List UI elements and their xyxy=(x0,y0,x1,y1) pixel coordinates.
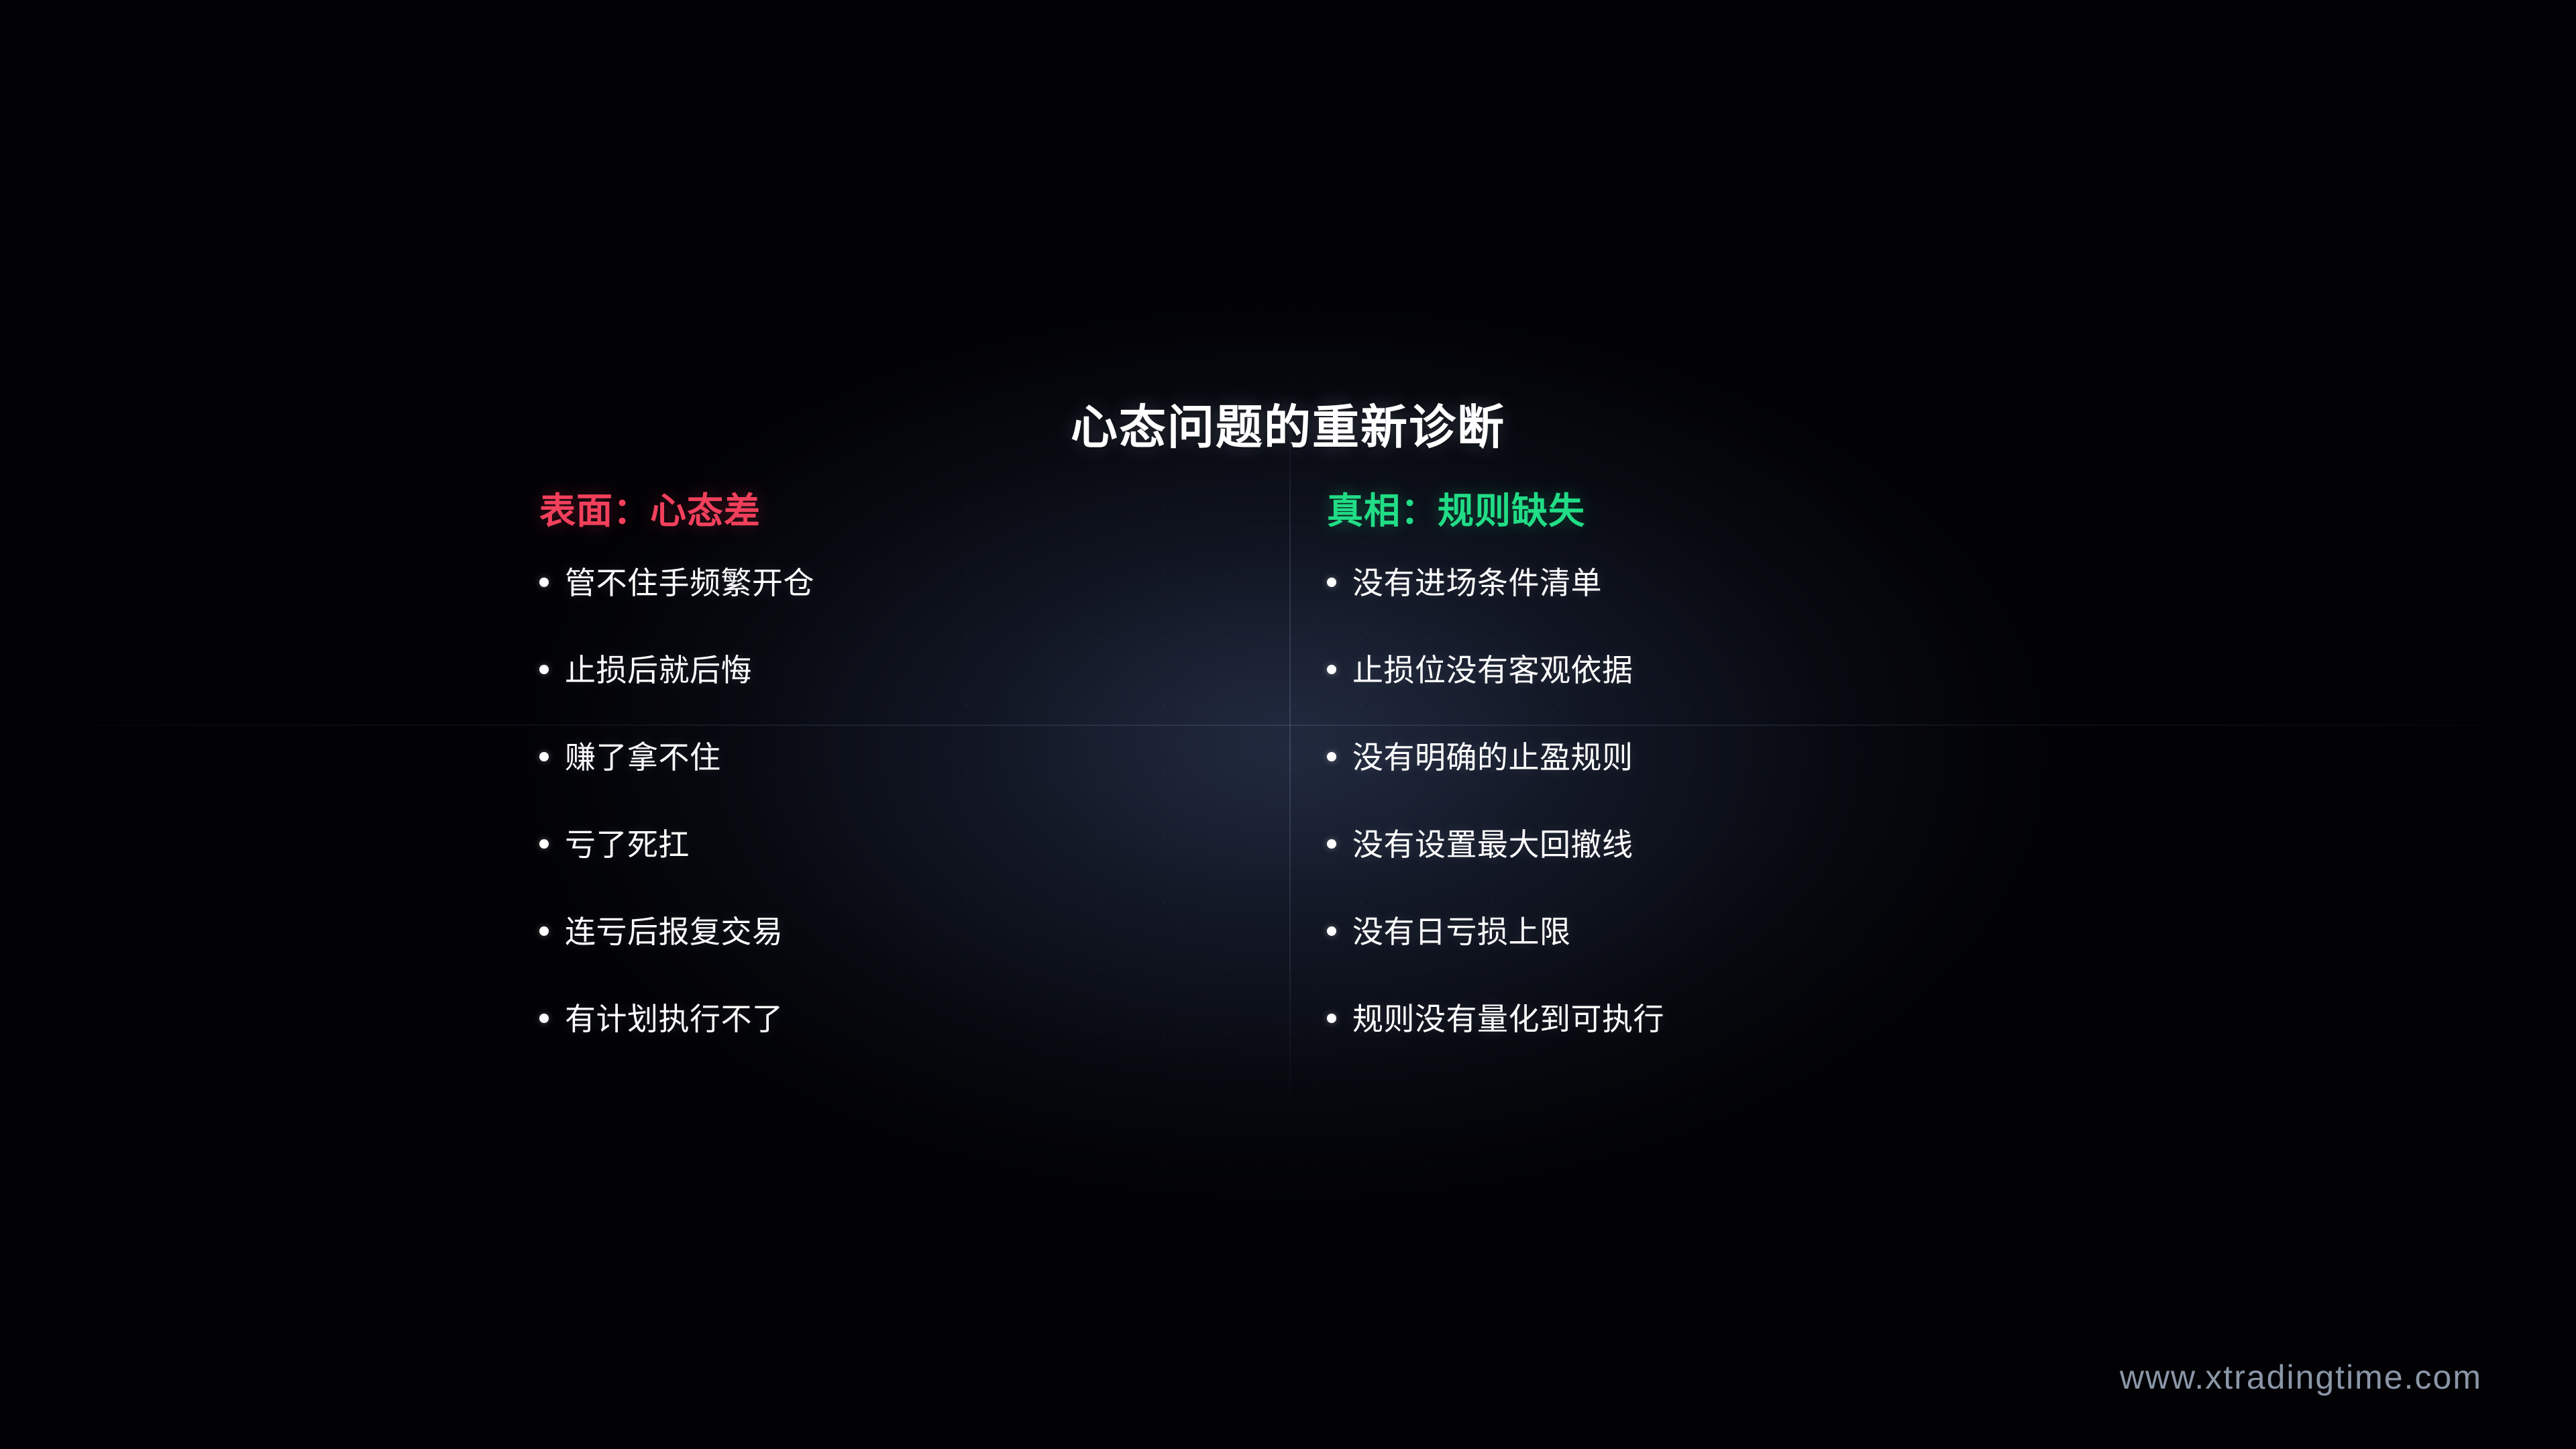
list-item: 有计划执行不了 xyxy=(539,995,1288,1082)
list-item-label: 没有日亏损上限 xyxy=(1352,908,1571,952)
bullet-dot-icon xyxy=(1327,839,1336,849)
bullet-dot-icon xyxy=(539,665,549,674)
comparison-columns: 表面：心态差 管不住手频繁开仓 止损后就后悔 赚了拿不住 亏了死扛 xyxy=(510,490,2066,1082)
bullet-list-surface: 管不住手频繁开仓 止损后就后悔 赚了拿不住 亏了死扛 连亏后报复交易 xyxy=(539,559,1288,1082)
list-item: 规则没有量化到可执行 xyxy=(1327,995,2066,1082)
bullet-dot-icon xyxy=(1327,665,1336,674)
slide-canvas: 心态问题的重新诊断 表面：心态差 管不住手频繁开仓 止损后就后悔 赚了拿不住 xyxy=(0,0,2576,1449)
page-title: 心态问题的重新诊断 xyxy=(0,390,2576,458)
column-header-truth: 真相：规则缺失 xyxy=(1327,490,2066,533)
list-item: 管不住手频繁开仓 xyxy=(539,559,1288,646)
bullet-dot-icon xyxy=(539,578,549,587)
bullet-dot-icon xyxy=(539,926,549,936)
list-item: 没有进场条件清单 xyxy=(1327,559,2066,646)
list-item: 没有明确的止盈规则 xyxy=(1327,733,2066,820)
bullet-dot-icon xyxy=(539,839,549,849)
list-item: 止损位没有客观依据 xyxy=(1327,646,2066,733)
list-item-label: 亏了死扛 xyxy=(565,820,690,865)
list-item-label: 管不住手频繁开仓 xyxy=(565,559,814,603)
list-item-label: 止损后就后悔 xyxy=(565,646,752,690)
list-item: 没有设置最大回撤线 xyxy=(1327,820,2066,908)
column-truth: 真相：规则缺失 没有进场条件清单 止损位没有客观依据 没有明确的止盈规则 没有设… xyxy=(1288,490,2066,1082)
column-surface: 表面：心态差 管不住手频繁开仓 止损后就后悔 赚了拿不住 亏了死扛 xyxy=(510,490,1288,1082)
bullet-dot-icon xyxy=(1327,578,1336,587)
list-item-label: 没有设置最大回撤线 xyxy=(1352,820,1633,865)
bullet-dot-icon xyxy=(1327,752,1336,761)
bullet-dot-icon xyxy=(539,1014,549,1023)
list-item: 赚了拿不住 xyxy=(539,733,1288,820)
list-item: 连亏后报复交易 xyxy=(539,908,1288,995)
bullet-dot-icon xyxy=(1327,926,1336,936)
list-item: 止损后就后悔 xyxy=(539,646,1288,733)
bullet-dot-icon xyxy=(539,752,549,761)
list-item-label: 有计划执行不了 xyxy=(565,995,784,1039)
column-header-surface: 表面：心态差 xyxy=(539,490,1288,533)
site-watermark: www.xtradingtime.com xyxy=(2120,1358,2482,1397)
list-item-label: 连亏后报复交易 xyxy=(565,908,784,952)
list-item-label: 规则没有量化到可执行 xyxy=(1352,995,1664,1039)
list-item: 没有日亏损上限 xyxy=(1327,908,2066,995)
list-item: 亏了死扛 xyxy=(539,820,1288,908)
list-item-label: 没有进场条件清单 xyxy=(1352,559,1602,603)
bullet-list-truth: 没有进场条件清单 止损位没有客观依据 没有明确的止盈规则 没有设置最大回撤线 没… xyxy=(1327,559,2066,1082)
list-item-label: 止损位没有客观依据 xyxy=(1352,646,1633,690)
list-item-label: 没有明确的止盈规则 xyxy=(1352,733,1633,777)
bullet-dot-icon xyxy=(1327,1014,1336,1023)
list-item-label: 赚了拿不住 xyxy=(565,733,721,777)
